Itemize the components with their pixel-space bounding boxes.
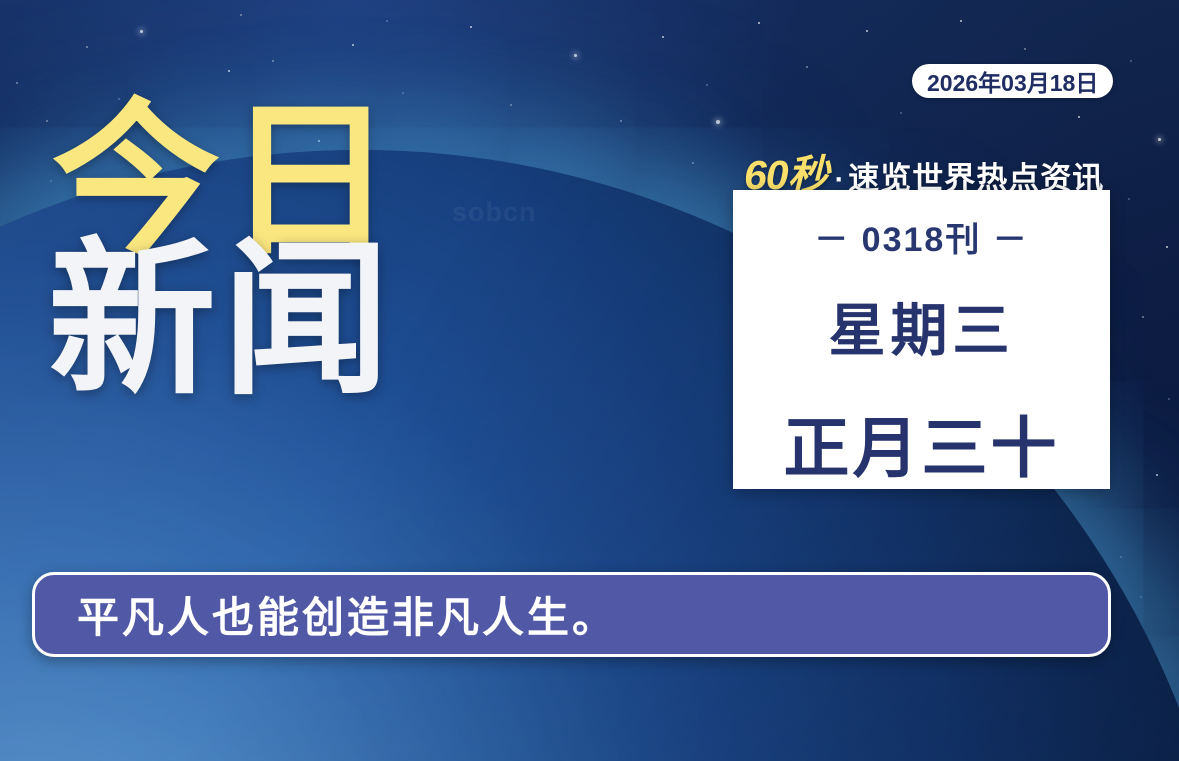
watermark-text: sobcn: [452, 197, 537, 228]
quote-text: 平凡人也能创造非凡人生。: [77, 584, 617, 645]
date-badge: 2026年03月18日: [912, 64, 1113, 98]
news-poster: sobcn 今日 新闻 2026年03月18日 60秒 · 速览世界热点资讯 －…: [0, 0, 1179, 761]
weekday-label: 星期三: [829, 285, 1015, 367]
lunar-date-label: 正月三十: [784, 395, 1060, 491]
page-title: 今日 新闻: [52, 104, 400, 397]
quote-bar: 平凡人也能创造非凡人生。: [32, 572, 1111, 657]
date-info-card: － 0318刊 － 星期三 正月三十: [733, 190, 1110, 489]
title-line-xinwen: 新闻: [48, 243, 400, 398]
issue-number: － 0318刊 －: [814, 212, 1029, 261]
